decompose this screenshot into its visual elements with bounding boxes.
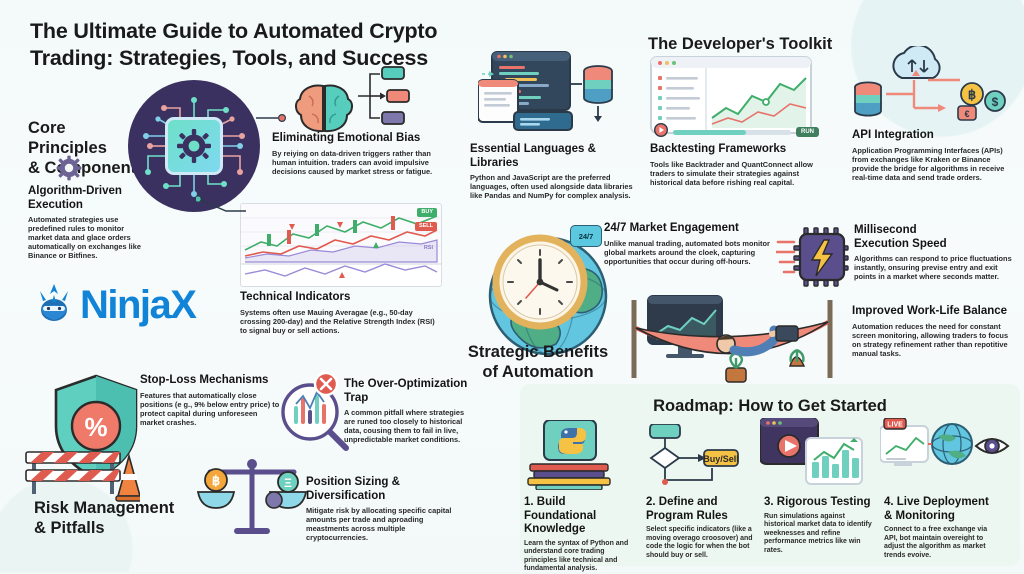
section-heading-benefits: Strategic Benefits of Automation [448, 342, 628, 382]
svg-text:$: $ [992, 95, 999, 109]
flowchart-icon: Buy/Sell [646, 424, 742, 486]
svg-text:฿: ฿ [212, 473, 220, 488]
brain-icon [292, 82, 356, 136]
roadmap-step-3: 3. Rigorous Testing Run simulations agai… [764, 496, 876, 555]
item-body: Application Programming Interfaces (APIs… [852, 146, 1012, 182]
buy-sell-badge: Buy/Sell [703, 454, 739, 464]
step-body: Run simulations against historical marke… [764, 513, 876, 556]
item-algorithm-driven-execution: Algorithm-Driven Execution Automated str… [28, 185, 148, 260]
step-title-line1: 2. Define and [646, 496, 756, 510]
item-title-line1: Position Sizing & [306, 476, 456, 490]
step-title-line1: 3. Rigorous Testing [764, 496, 876, 510]
item-body: Unlike manual trading, automated bots mo… [604, 239, 774, 266]
infographic-canvas: The Ultimate Guide to Automated Crypto T… [0, 0, 1024, 572]
item-title: Essential Languages & Libraries [470, 143, 640, 170]
connector-line-chart [196, 195, 248, 217]
svg-text:€: € [964, 109, 969, 119]
item-24-7-market-engagement: 24/7 Market Engagement Unlike manual tra… [604, 222, 774, 266]
step-body: Connect to a free exchange via API, bot … [884, 526, 1002, 560]
item-essential-languages: Essential Languages & Libraries Python a… [470, 143, 640, 200]
roadmap-step-2: 2. Define and Program Rules Select speci… [646, 496, 756, 560]
item-improved-work-life-balance: Improved Work-Life Balance Automation re… [852, 305, 1016, 358]
item-title-line2: Trap [344, 392, 472, 406]
item-position-sizing: Position Sizing & Diversification Mitiga… [306, 476, 456, 542]
item-title-line2: Execution Speed [854, 238, 1014, 252]
svg-text:Ξ: Ξ [284, 476, 292, 490]
roadmap-step-1: 1. Build Foundational Knowledge Learn th… [524, 496, 636, 574]
step-title-line2: Knowledge [524, 523, 636, 537]
item-title-line2: Diversification [306, 490, 456, 504]
item-body: A common pitfall where strategies are ru… [344, 408, 472, 444]
item-body: Systems often use Mauing Averagae (e.g.,… [240, 308, 440, 335]
play-button[interactable] [654, 123, 668, 142]
step-body: Learn the syntax of Python and understan… [524, 540, 636, 574]
hammock-relax-icon [630, 292, 840, 384]
item-body: Algorithms can respond to price fluctuat… [854, 254, 1014, 281]
step-title-line1: 4. Live Deployment [884, 496, 1002, 510]
cloud-api-icon: ฿ $ € [850, 46, 1010, 130]
section-heading-risk: Risk Management & Pitfalls [34, 498, 214, 538]
benefits-heading-line1: Strategic Benefits [448, 342, 628, 362]
live-badge: LIVE [887, 422, 903, 429]
roadmap-step-4: 4. Live Deployment & Monitoring Connect … [884, 496, 1002, 560]
item-millisecond-execution-speed: Millisecond Execution Speed Algorithms c… [854, 224, 1014, 281]
progress-bar[interactable] [673, 130, 791, 135]
ninja-mask-icon [32, 281, 76, 330]
item-stop-loss-mechanisms: Stop-Loss Mechanisms Features that autom… [140, 374, 280, 427]
buy-tag: BUY [417, 208, 437, 217]
python-book-icon [524, 420, 620, 490]
item-backtesting-frameworks: Backtesting Frameworks Tools like Backtr… [650, 143, 820, 187]
section-heading-roadmap: Roadmap: How to Get Started [520, 396, 1020, 416]
step-title-line2: Program Rules [646, 510, 756, 524]
item-title: 24/7 Market Engagement [604, 222, 774, 236]
item-technical-indicators: Technical Indicators Systems often use M… [240, 291, 440, 335]
step-title-line2: & Monitoring [884, 510, 1002, 524]
item-body: Automation reduces the need for constant… [852, 322, 1016, 358]
barrier-cones-icon [20, 436, 140, 502]
live-monitor-eye-icon: LIVE [880, 418, 1010, 488]
test-play-chart-icon [760, 418, 864, 488]
gear-icon [56, 155, 82, 181]
cpu-lightning-icon [776, 222, 854, 292]
item-title-line1: Millisecond [854, 224, 1014, 238]
item-title: Improved Work-Life Balance [852, 305, 1016, 319]
backtest-controls[interactable]: RUN [654, 125, 819, 139]
svg-text:฿: ฿ [968, 87, 976, 102]
bias-output-signals [356, 66, 416, 130]
step-title-line1: 1. Build Foundational [524, 496, 636, 523]
connector-line-brain [256, 106, 292, 126]
item-over-optimization-trap: The Over-Optimization Trap A common pitf… [344, 378, 472, 444]
brand-name: NinjaX [80, 283, 195, 327]
chart-player-icon [650, 56, 830, 136]
item-title-line1: The Over-Optimization [344, 378, 472, 392]
run-button[interactable]: RUN [796, 127, 819, 137]
code-window-icon [478, 50, 638, 132]
brand-logo[interactable]: NinjaX [32, 278, 232, 332]
risk-heading-line1: Risk Management [34, 498, 214, 518]
step-body: Select specific indicators (like a movin… [646, 526, 756, 560]
item-title: Stop-Loss Mechanisms [140, 374, 280, 388]
technical-indicator-chart: BUY SELL RSI [240, 203, 442, 287]
item-title: Backtesting Frameworks [650, 143, 820, 157]
item-body: Features that automatically close positi… [140, 391, 280, 427]
badge-24-7: 24/7 [570, 225, 602, 247]
item-body: Tools like Backtrader and QuantConnect a… [650, 160, 820, 187]
rsi-label: RSI [420, 244, 437, 253]
cpu-chip-icon [165, 117, 223, 175]
sell-tag: SELL [415, 222, 437, 231]
item-body: Mitigate risk by allocating specific cap… [306, 506, 456, 542]
item-title: API Integration [852, 129, 1012, 143]
item-title: Eliminating Emotional Bias [272, 132, 437, 146]
item-title: Algorithm-Driven Execution [28, 185, 148, 212]
page-title: The Ultimate Guide to Automated Crypto T… [30, 18, 460, 72]
item-api-integration: API Integration Application Programming … [852, 129, 1012, 182]
item-body: By reiying on data-driven triggers rathe… [272, 149, 437, 176]
item-title: Technical Indicators [240, 291, 440, 305]
item-eliminating-emotional-bias: Eliminating Emotional Bias By reiying on… [272, 132, 437, 176]
globe-clock-icon [484, 222, 624, 362]
item-body: Python and JavaScript are the preferred … [470, 173, 640, 200]
risk-heading-line2: & Pitfalls [34, 518, 214, 538]
magnifier-error-icon [276, 370, 350, 454]
item-body: Automated strategies use predefined rule… [28, 215, 148, 260]
benefits-heading-line2: of Automation [448, 362, 628, 382]
